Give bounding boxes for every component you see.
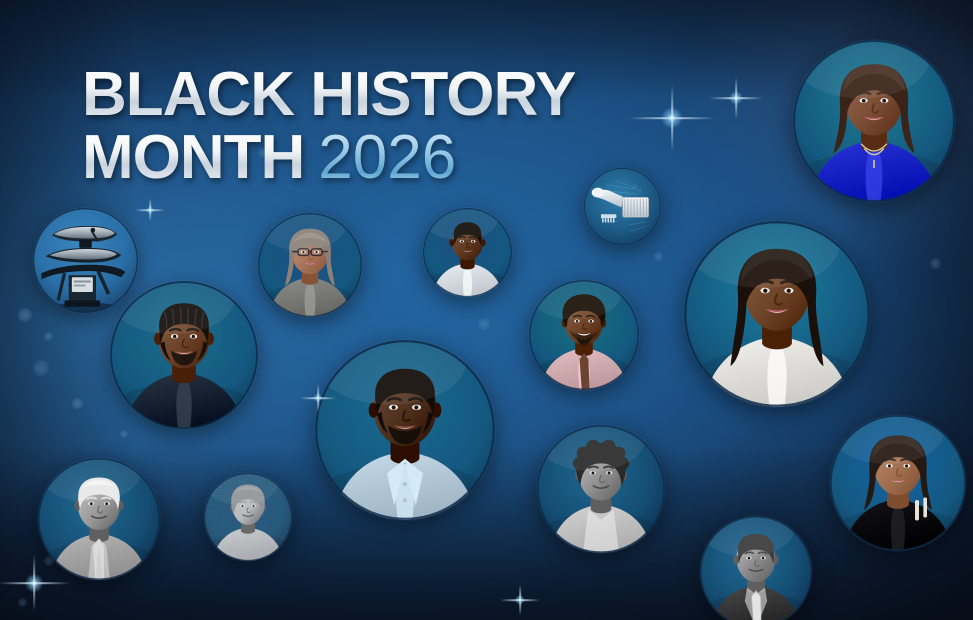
woman-in-blue-blazer-portrait-image <box>793 40 955 202</box>
bokeh-dot-12 <box>18 598 27 607</box>
bokeh-dot-7 <box>478 318 490 330</box>
sparkle-horizontal-ray <box>135 209 165 211</box>
young-man-white-tshirt-portrait-image <box>423 208 512 297</box>
historic-man-white-hair-portrait-image <box>38 458 160 580</box>
laughing-man-portrait-image <box>529 280 639 390</box>
man-with-braids-portrait-image <box>110 281 258 429</box>
industrial-pressing-machine-artifact: Vintage industrial clothes pressing / ir… <box>33 208 138 313</box>
sparkle-vertical-ray <box>519 584 521 615</box>
historic-engraved-portrait-description: Halftone engraving of a 19th-century fig… <box>204 473 205 474</box>
woman-with-pearls-portrait-description: Smiling woman with wavy dark hair, long … <box>830 415 831 416</box>
title-line-black-history: BLACK HISTORY <box>82 66 575 123</box>
historic-woman-light-blazer-portrait-description: Black-and-white portrait of a smiling wo… <box>537 425 538 426</box>
man-with-braids-portrait: Man with cornrow braids and a full beard… <box>110 281 258 429</box>
sparkle-core <box>661 107 683 129</box>
bokeh-dot-4 <box>72 398 83 409</box>
young-man-white-tshirt-portrait: Smiling young man with short hair in a w… <box>423 208 512 297</box>
hairbrush-patent-drawing-artifact-description: Patent diagram of a hairbrush / comb inv… <box>584 168 585 169</box>
man-light-blue-shirt-portrait: Man with a short beard wearing a light b… <box>315 340 495 520</box>
sparkle-title-right <box>629 75 715 161</box>
hairbrush-patent-drawing-artifact-image <box>584 168 661 245</box>
man-light-blue-shirt-portrait-description: Man with a short beard wearing a light b… <box>315 340 316 341</box>
woman-white-turtleneck-portrait: Smiling woman with long dark wavy hair w… <box>684 221 870 407</box>
black-history-month-banner: Smiling woman with shoulder-length wavy … <box>0 0 973 620</box>
historic-engraved-portrait: Halftone engraving of a 19th-century fig… <box>204 473 292 561</box>
woman-with-glasses-portrait-description: Smiling woman with long grey-brown hair,… <box>258 213 259 214</box>
sparkle-upper-left-small <box>135 195 165 225</box>
title-year: 2026 <box>318 129 456 186</box>
sparkle-bottom-mid <box>500 580 540 620</box>
bokeh-dot-10 <box>930 258 941 269</box>
woman-in-blue-blazer-portrait-description: Smiling woman with shoulder-length wavy … <box>793 40 794 41</box>
industrial-pressing-machine-artifact-description: Vintage industrial clothes pressing / ir… <box>33 208 34 209</box>
woman-white-turtleneck-portrait-description: Smiling woman with long dark wavy hair w… <box>684 221 685 222</box>
young-man-white-tshirt-portrait-description: Smiling young man with short hair in a w… <box>423 208 424 209</box>
historic-woman-light-blazer-portrait-image <box>537 425 665 553</box>
hairbrush-patent-drawing-artifact: Patent diagram of a hairbrush / comb inv… <box>584 168 661 245</box>
laughing-man-portrait-description: Laughing man with an afro and beard in a… <box>529 280 530 281</box>
bokeh-dot-8 <box>654 252 663 261</box>
bokeh-dot-2 <box>44 332 53 341</box>
historic-young-man-suit-portrait-description: Black-and-white portrait of a young man … <box>700 516 701 517</box>
woman-with-pearls-portrait-image <box>830 415 966 551</box>
sparkle-vertical-ray <box>671 84 673 151</box>
banner-title-block: BLACK HISTORY MONTH 2026 <box>82 66 575 186</box>
woman-in-blue-blazer-portrait: Smiling woman with shoulder-length wavy … <box>793 40 955 202</box>
historic-man-white-hair-portrait: Black-and-white archival photograph of a… <box>38 458 160 580</box>
sparkle-vertical-ray <box>149 198 151 221</box>
bokeh-dot-1 <box>18 308 32 322</box>
historic-young-man-suit-portrait-image <box>700 516 812 620</box>
sparkle-core <box>729 91 743 105</box>
sparkle-vertical-ray <box>33 555 35 611</box>
sparkle-horizontal-ray <box>709 97 763 99</box>
historic-woman-light-blazer-portrait: Black-and-white portrait of a smiling wo… <box>537 425 665 553</box>
industrial-pressing-machine-artifact-image <box>33 208 138 313</box>
woman-with-glasses-portrait: Smiling woman with long grey-brown hair,… <box>258 213 362 317</box>
title-line-month: MONTH <box>82 129 304 186</box>
sparkle-core <box>146 206 154 214</box>
sparkle-core <box>25 574 44 593</box>
sparkle-vertical-ray <box>735 77 737 119</box>
laughing-man-portrait: Laughing man with an afro and beard in a… <box>529 280 639 390</box>
sparkle-horizontal-ray <box>500 599 540 601</box>
woman-white-turtleneck-portrait-image <box>684 221 870 407</box>
historic-engraved-portrait-image <box>204 473 292 561</box>
woman-with-glasses-portrait-image <box>258 213 362 317</box>
woman-with-pearls-portrait: Smiling woman with wavy dark hair, long … <box>830 415 966 551</box>
man-light-blue-shirt-portrait-image <box>315 340 495 520</box>
historic-young-man-suit-portrait: Black-and-white portrait of a young man … <box>700 516 812 620</box>
sparkle-horizontal-ray <box>0 582 70 584</box>
sparkle-horizontal-ray <box>629 117 715 119</box>
sparkle-core <box>515 595 525 605</box>
sparkle-history-tail <box>709 71 763 125</box>
bokeh-dot-3 <box>33 360 49 376</box>
historic-man-white-hair-portrait-description: Black-and-white archival photograph of a… <box>38 458 39 459</box>
bokeh-dot-5 <box>120 430 128 438</box>
